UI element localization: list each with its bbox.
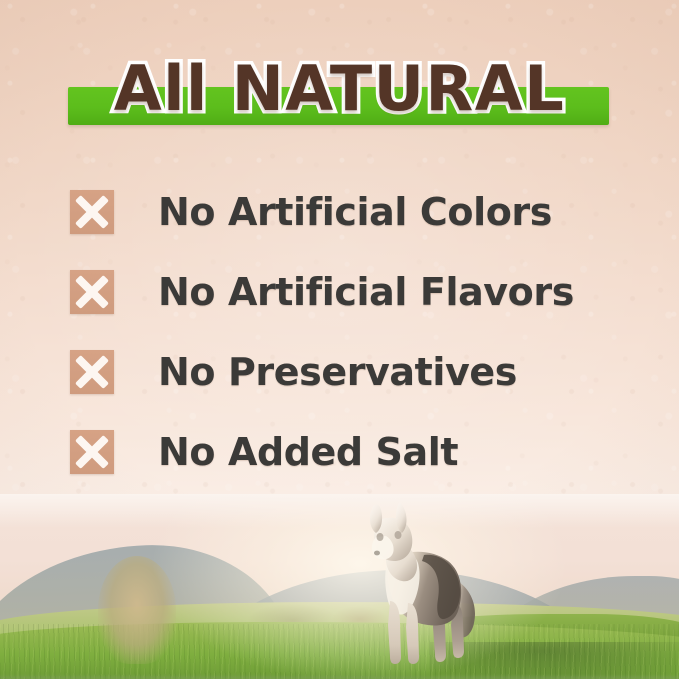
poster-canvas: All NATURAL No Artificial Colors No Arti… — [0, 0, 679, 679]
x-mark-icon — [70, 430, 114, 474]
photo-bottom-edge — [0, 674, 679, 679]
x-mark-icon — [70, 190, 114, 234]
list-item: No Preservatives — [70, 332, 630, 412]
list-item: No Added Salt — [70, 412, 630, 492]
photo-top-fade — [0, 494, 679, 528]
list-item-label: No Artificial Flavors — [158, 270, 574, 314]
list-item-label: No Added Salt — [158, 430, 458, 474]
feature-list: No Artificial Colors No Artificial Flavo… — [70, 172, 630, 492]
x-mark-icon — [70, 350, 114, 394]
shrub-large — [98, 556, 176, 664]
list-item: No Artificial Colors — [70, 172, 630, 252]
page-title: All NATURAL — [0, 50, 679, 128]
headline-banner: All NATURAL — [0, 50, 679, 138]
list-item: No Artificial Flavors — [70, 252, 630, 332]
x-mark-icon — [70, 270, 114, 314]
dog-photo — [0, 494, 679, 679]
list-item-label: No Artificial Colors — [158, 190, 552, 234]
list-item-label: No Preservatives — [158, 350, 517, 394]
